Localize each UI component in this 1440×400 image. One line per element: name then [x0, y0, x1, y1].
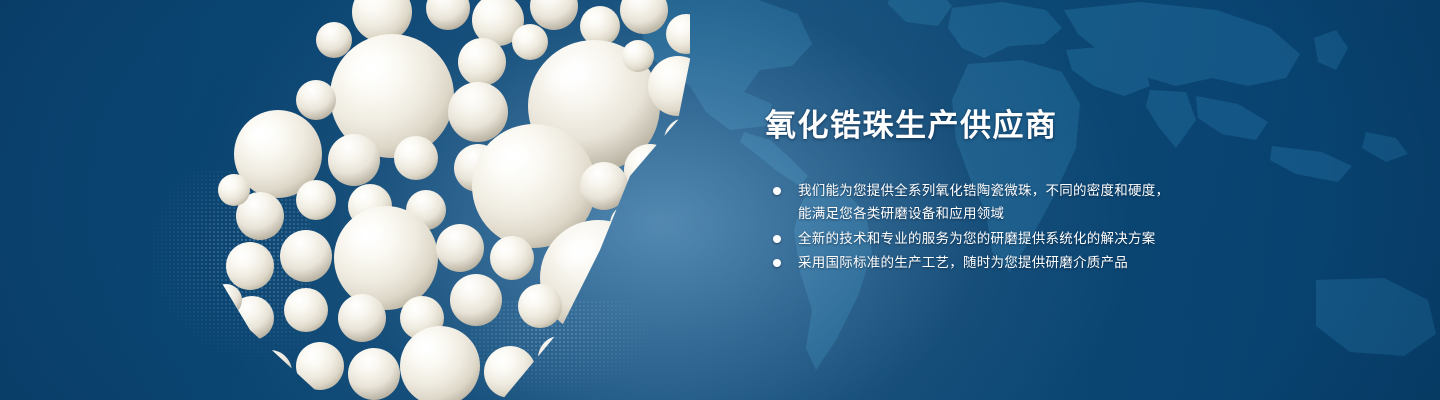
bullet-text-3: 采用国际标准的生产工艺，随时为您提供研磨介质产品	[798, 251, 1385, 275]
bullet-text-1: 我们能为您提供全系列氧化锆陶瓷微珠，不同的密度和硬度， 能满足您各类研磨设备和应…	[798, 179, 1385, 226]
banner-headline: 氧化锆珠生产供应商	[765, 108, 1385, 145]
bullet-item-3: 采用国际标准的生产工艺，随时为您提供研磨介质产品	[771, 251, 1385, 275]
bullet-item-2: 全新的技术和专业的服务为您的研磨提供系统化的解决方案	[771, 227, 1385, 251]
banner-copy: 氧化锆珠生产供应商 我们能为您提供全系列氧化锆陶瓷微珠，不同的密度和硬度， 能满…	[765, 108, 1385, 276]
bullet-dot-icon	[773, 187, 781, 195]
banner-bullet-list: 我们能为您提供全系列氧化锆陶瓷微珠，不同的密度和硬度， 能满足您各类研磨设备和应…	[771, 179, 1385, 275]
bullet-dot-icon	[773, 235, 781, 243]
bullet-line-1a: 我们能为您提供全系列氧化锆陶瓷微珠，不同的密度和硬度，	[798, 183, 1169, 198]
zirconia-beads-photo	[130, 0, 710, 400]
bullet-item-1: 我们能为您提供全系列氧化锆陶瓷微珠，不同的密度和硬度， 能满足您各类研磨设备和应…	[771, 179, 1385, 226]
bullet-text-2: 全新的技术和专业的服务为您的研磨提供系统化的解决方案	[798, 227, 1385, 251]
hero-banner: 氧化锆珠生产供应商 我们能为您提供全系列氧化锆陶瓷微珠，不同的密度和硬度， 能满…	[0, 0, 1440, 400]
bullet-line-1b: 能满足您各类研磨设备和应用领域	[798, 202, 1385, 226]
bullet-dot-icon	[773, 259, 781, 267]
